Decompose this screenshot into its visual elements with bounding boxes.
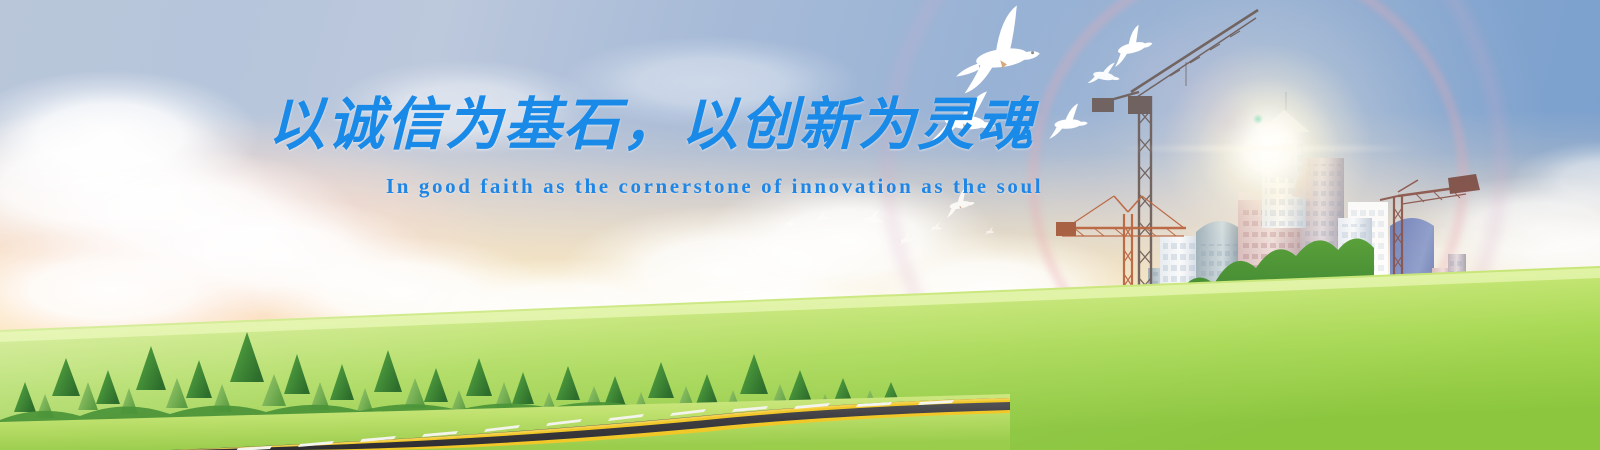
page-title: 以诚信为基石，以创新为灵魂 (268, 96, 1088, 156)
hero-banner: 以诚信为基石，以创新为灵魂 In good faith as the corne… (0, 0, 1600, 450)
left-landscape (0, 320, 1010, 450)
banner-text-block: 以诚信为基石，以创新为灵魂 In good faith as the corne… (268, 96, 1088, 199)
page-subtitle: In good faith as the cornerstone of inno… (386, 174, 1088, 199)
